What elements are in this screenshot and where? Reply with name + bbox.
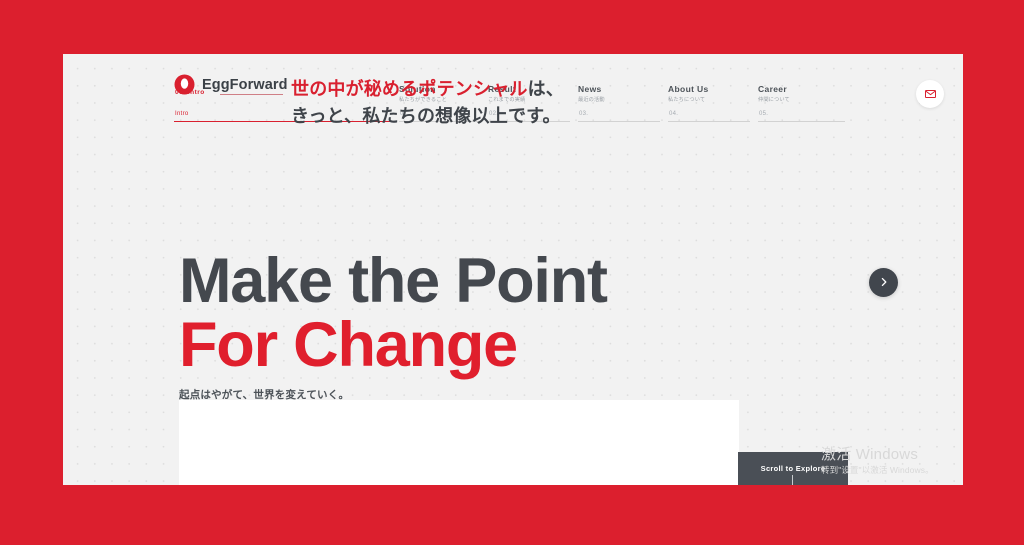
nav-title: About Us xyxy=(668,84,709,95)
nav-item-about-us[interactable]: About Us 私たちについて xyxy=(668,84,709,105)
hero-line-2: For Change xyxy=(179,313,607,377)
nav-title: News xyxy=(578,84,605,95)
logo-text: EggForward xyxy=(202,77,288,93)
nav-subtitle: 仲間について xyxy=(758,96,790,105)
nav-subtitle: 最近の活動 xyxy=(578,96,605,105)
envelope-icon xyxy=(925,85,936,103)
intro-line-2: きっと、私たちの想像以上です。 xyxy=(291,103,564,130)
page-frame: EggForward Solution 私たちができること Result これま… xyxy=(0,0,1024,545)
intro-card xyxy=(179,400,739,485)
rail-line xyxy=(578,121,660,122)
contact-mail-button[interactable] xyxy=(916,80,944,108)
chevron-right-icon xyxy=(879,274,889,292)
nav-item-news[interactable]: News 最近の活動 xyxy=(578,84,605,105)
next-slide-button[interactable] xyxy=(869,268,898,297)
rail-segment-05[interactable]: 05. xyxy=(758,110,845,122)
intro-index-label: 00. Intro xyxy=(175,89,205,96)
scroll-to-explore-button[interactable]: Scroll to Explore xyxy=(738,452,848,485)
nav-subtitle: 私たちについて xyxy=(668,96,709,105)
intro-line-1-red: 世の中が秘めるポテンシャル xyxy=(291,79,528,99)
rail-segment-04[interactable]: 04. xyxy=(668,110,750,122)
rail-segment-03[interactable]: 03. xyxy=(578,110,660,122)
rail-line xyxy=(668,121,750,122)
intro-line-1: 世の中が秘めるポテンシャルは、 xyxy=(291,76,564,103)
hero-line-1: Make the Point xyxy=(179,249,607,313)
scroll-indicator-line xyxy=(792,475,793,485)
rail-label: 03. xyxy=(578,110,660,119)
intro-line-1-tail: は、 xyxy=(528,79,564,99)
rail-label: 04. xyxy=(668,110,750,119)
nav-item-career[interactable]: Career 仲間について xyxy=(758,84,790,105)
intro-connector-line xyxy=(220,94,283,95)
intro-text-block: 世の中が秘めるポテンシャルは、 きっと、私たちの想像以上です。 xyxy=(291,76,564,130)
site-viewport: EggForward Solution 私たちができること Result これま… xyxy=(63,54,963,485)
nav-title: Career xyxy=(758,84,790,95)
rail-line xyxy=(758,121,845,122)
scroll-to-explore-label: Scroll to Explore xyxy=(761,464,826,473)
rail-label: 05. xyxy=(758,110,845,119)
hero-heading: Make the Point For Change 起点はやがて、世界を変えてい… xyxy=(179,249,607,402)
